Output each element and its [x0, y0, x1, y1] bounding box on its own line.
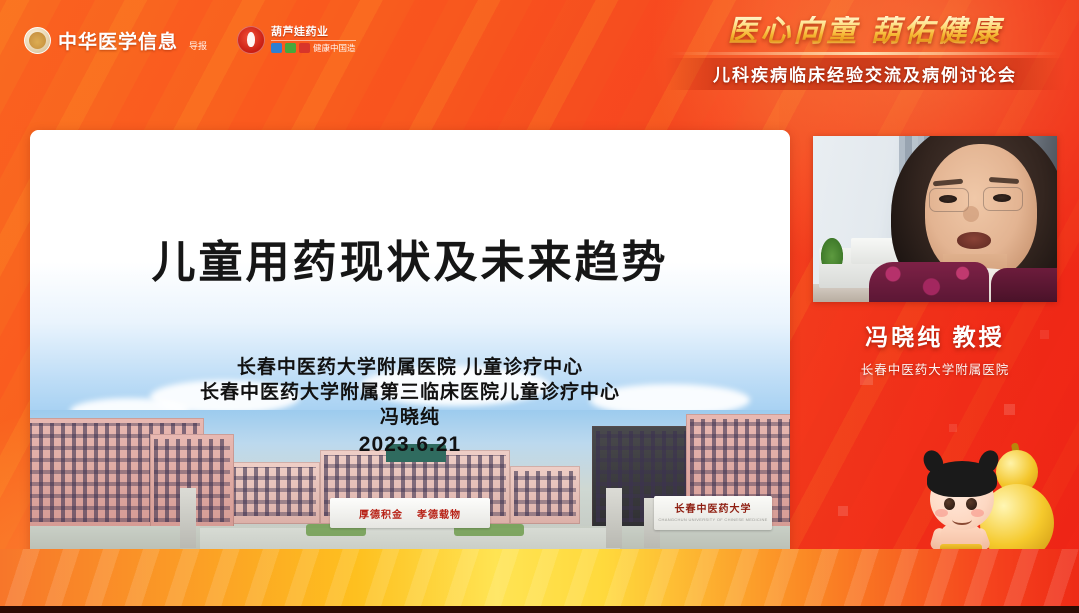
logo-pharma-sponsor[interactable]: 葫芦娃药业 健康中国造 [237, 26, 356, 54]
logo-pharma-slogan-row: 健康中国造 [271, 43, 356, 53]
speaker-mouth [957, 232, 991, 249]
logo-pharma-text-block: 葫芦娃药业 健康中国造 [271, 27, 356, 53]
video-background-box [851, 238, 895, 264]
mascot-eye-left [944, 498, 955, 510]
video-background-plant [821, 238, 843, 264]
presentation-slide[interactable]: 厚德积金 孝德载物 长春中医药大学 CHANGCHUN UNIVERSITY O… [30, 130, 790, 562]
logo-pharma-divider [271, 40, 356, 41]
seal-emblem-icon [24, 27, 51, 54]
gate-sign-english: CHANGCHUN UNIVERSITY OF CHINESE MEDICINE [658, 517, 767, 522]
chip-red-icon [299, 43, 310, 53]
speaker-nose [963, 206, 979, 222]
speaker-video-feed[interactable] [813, 136, 1057, 302]
speaker-caption: 冯晓纯 教授 长春中医药大学附属医院 [813, 318, 1057, 378]
speaker-shirt [869, 262, 989, 302]
gate-sign-chinese: 长春中医药大学 [675, 505, 752, 515]
slide-title: 儿童用药现状及未来趋势 [30, 226, 790, 290]
mascot-hair-bangs [944, 482, 978, 495]
mascot-smile [952, 514, 972, 525]
gate-pillar [180, 488, 196, 548]
campus-stone-sign: 厚德积金 孝德载物 [330, 498, 490, 528]
logo-primary-text: 中华医学信息 [58, 27, 178, 54]
logo-pharma-name: 葫芦娃药业 [271, 27, 356, 38]
slide-subtitle-line-1: 长春中医药大学附属医院 儿童诊疗中心 [30, 355, 790, 380]
speaker-name: 冯晓纯 教授 [813, 318, 1057, 352]
logo-china-medical-journal[interactable]: 中华医学信息 导报 [24, 27, 207, 54]
stone-sign-right-text: 孝德载物 [417, 506, 461, 521]
chip-blue-icon [271, 43, 282, 53]
event-banner: 医心向童 葫佑健康 儿科疾病临床经验交流及病例讨论会 [665, 16, 1065, 90]
event-banner-divider [671, 52, 1059, 55]
gate-pillar [606, 488, 622, 548]
speaker-organization: 长春中医药大学附属医院 [813, 359, 1057, 378]
speaker-eye-right [993, 194, 1011, 202]
slide-subtitle-line-3: 冯晓纯 [30, 405, 790, 431]
stone-sign-left-text: 厚德积金 [359, 506, 403, 521]
slide-subtitle-block: 长春中医药大学附属医院 儿童诊疗中心 长春中医药大学附属第三临床医院儿童诊疗中心… [30, 355, 790, 460]
event-banner-subtitle: 儿科疾病临床经验交流及病例讨论会 [665, 61, 1065, 86]
mascot-eye-right [966, 498, 977, 510]
flame-droplet-icon [237, 26, 265, 54]
building-distant [228, 462, 320, 524]
mascot-cheek-right [971, 509, 984, 517]
decorative-square [1004, 404, 1015, 415]
logo-primary-suffix: 导报 [189, 39, 207, 54]
chip-green-icon [285, 43, 296, 53]
speaker-eye-left [939, 195, 957, 203]
decorative-square [838, 506, 848, 516]
event-banner-subtitle-wrap: 儿科疾病临床经验交流及病例讨论会 [665, 58, 1065, 90]
broadcast-stage: 中华医学信息 导报 葫芦娃药业 健康中国造 医心向童 葫佑健康 儿科疾病临床经验… [0, 0, 1079, 613]
decorative-square [949, 424, 957, 432]
event-banner-title: 医心向童 葫佑健康 [665, 16, 1065, 48]
slide-subtitle-date: 2023.6.21 [30, 431, 790, 460]
bottom-light-band-rays [0, 549, 1079, 607]
bottom-letterbox-bar [0, 606, 1079, 613]
building-distant [510, 466, 580, 524]
mascot-cheek-left [935, 509, 948, 517]
header-logos: 中华医学信息 导报 葫芦娃药业 健康中国造 [24, 26, 356, 54]
logo-pharma-slogan: 健康中国造 [313, 44, 356, 53]
campus-gate-sign: 长春中医药大学 CHANGCHUN UNIVERSITY OF CHINESE … [654, 496, 772, 530]
speaker-shirt-right [991, 268, 1057, 302]
slide-subtitle-line-2: 长春中医药大学附属第三临床医院儿童诊疗中心 [30, 380, 790, 405]
